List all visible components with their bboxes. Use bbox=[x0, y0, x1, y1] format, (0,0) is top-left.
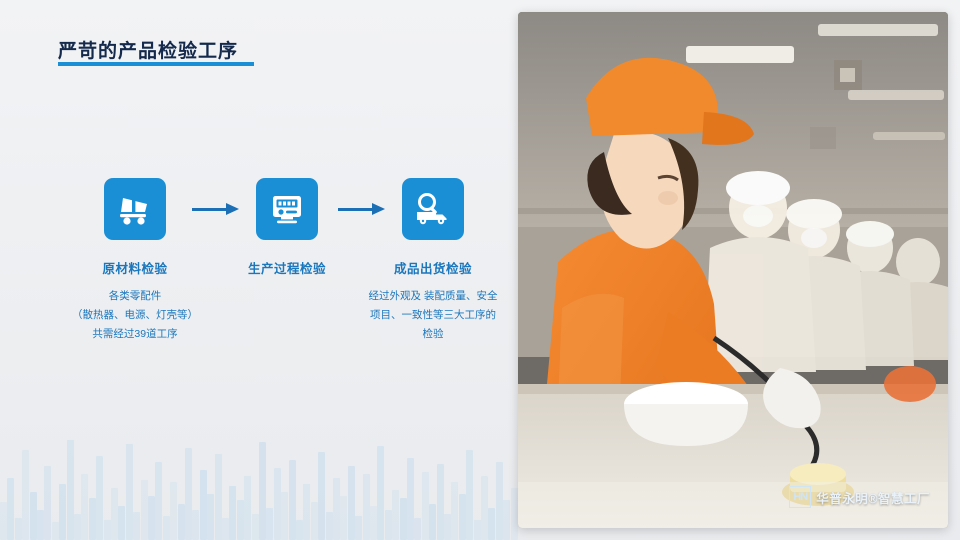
flow-step-desc: 经过外观及 装配质量、安全 项目、一致性等三大工序的 检验 bbox=[358, 287, 508, 344]
flow-step-label: 原材料检验 bbox=[60, 258, 210, 277]
flow-step-production: 生产过程检验 bbox=[212, 178, 362, 287]
decorative-bar-pattern bbox=[0, 390, 520, 540]
factory-photo: HN 华普永明®智慧工厂 bbox=[518, 12, 948, 528]
mining-cart-icon bbox=[104, 178, 166, 240]
logo-mark: HN bbox=[789, 486, 811, 508]
title-underline bbox=[58, 62, 254, 66]
truck-inspection-icon bbox=[402, 178, 464, 240]
logo: HN 华普永明®智慧工厂 bbox=[789, 486, 930, 508]
slide: 严苛的产品检验工序 原材料检验 各类零配件 （散热器、电源、灯壳等） 共需经过3… bbox=[0, 0, 960, 540]
factory-photo-illustration bbox=[518, 12, 948, 528]
flow-step-label: 生产过程检验 bbox=[212, 258, 362, 277]
flow-step-desc: 各类零配件 （散热器、电源、灯壳等） 共需经过39道工序 bbox=[60, 287, 210, 344]
logo-text: 华普永明®智慧工厂 bbox=[816, 488, 930, 507]
flow-step-finished-goods: 成品出货检验 经过外观及 装配质量、安全 项目、一致性等三大工序的 检验 bbox=[358, 178, 508, 344]
monitor-settings-icon bbox=[256, 178, 318, 240]
page-title: 严苛的产品检验工序 bbox=[58, 36, 238, 63]
flow-step-label: 成品出货检验 bbox=[358, 258, 508, 277]
flow-step-raw-material: 原材料检验 各类零配件 （散热器、电源、灯壳等） 共需经过39道工序 bbox=[60, 178, 210, 344]
